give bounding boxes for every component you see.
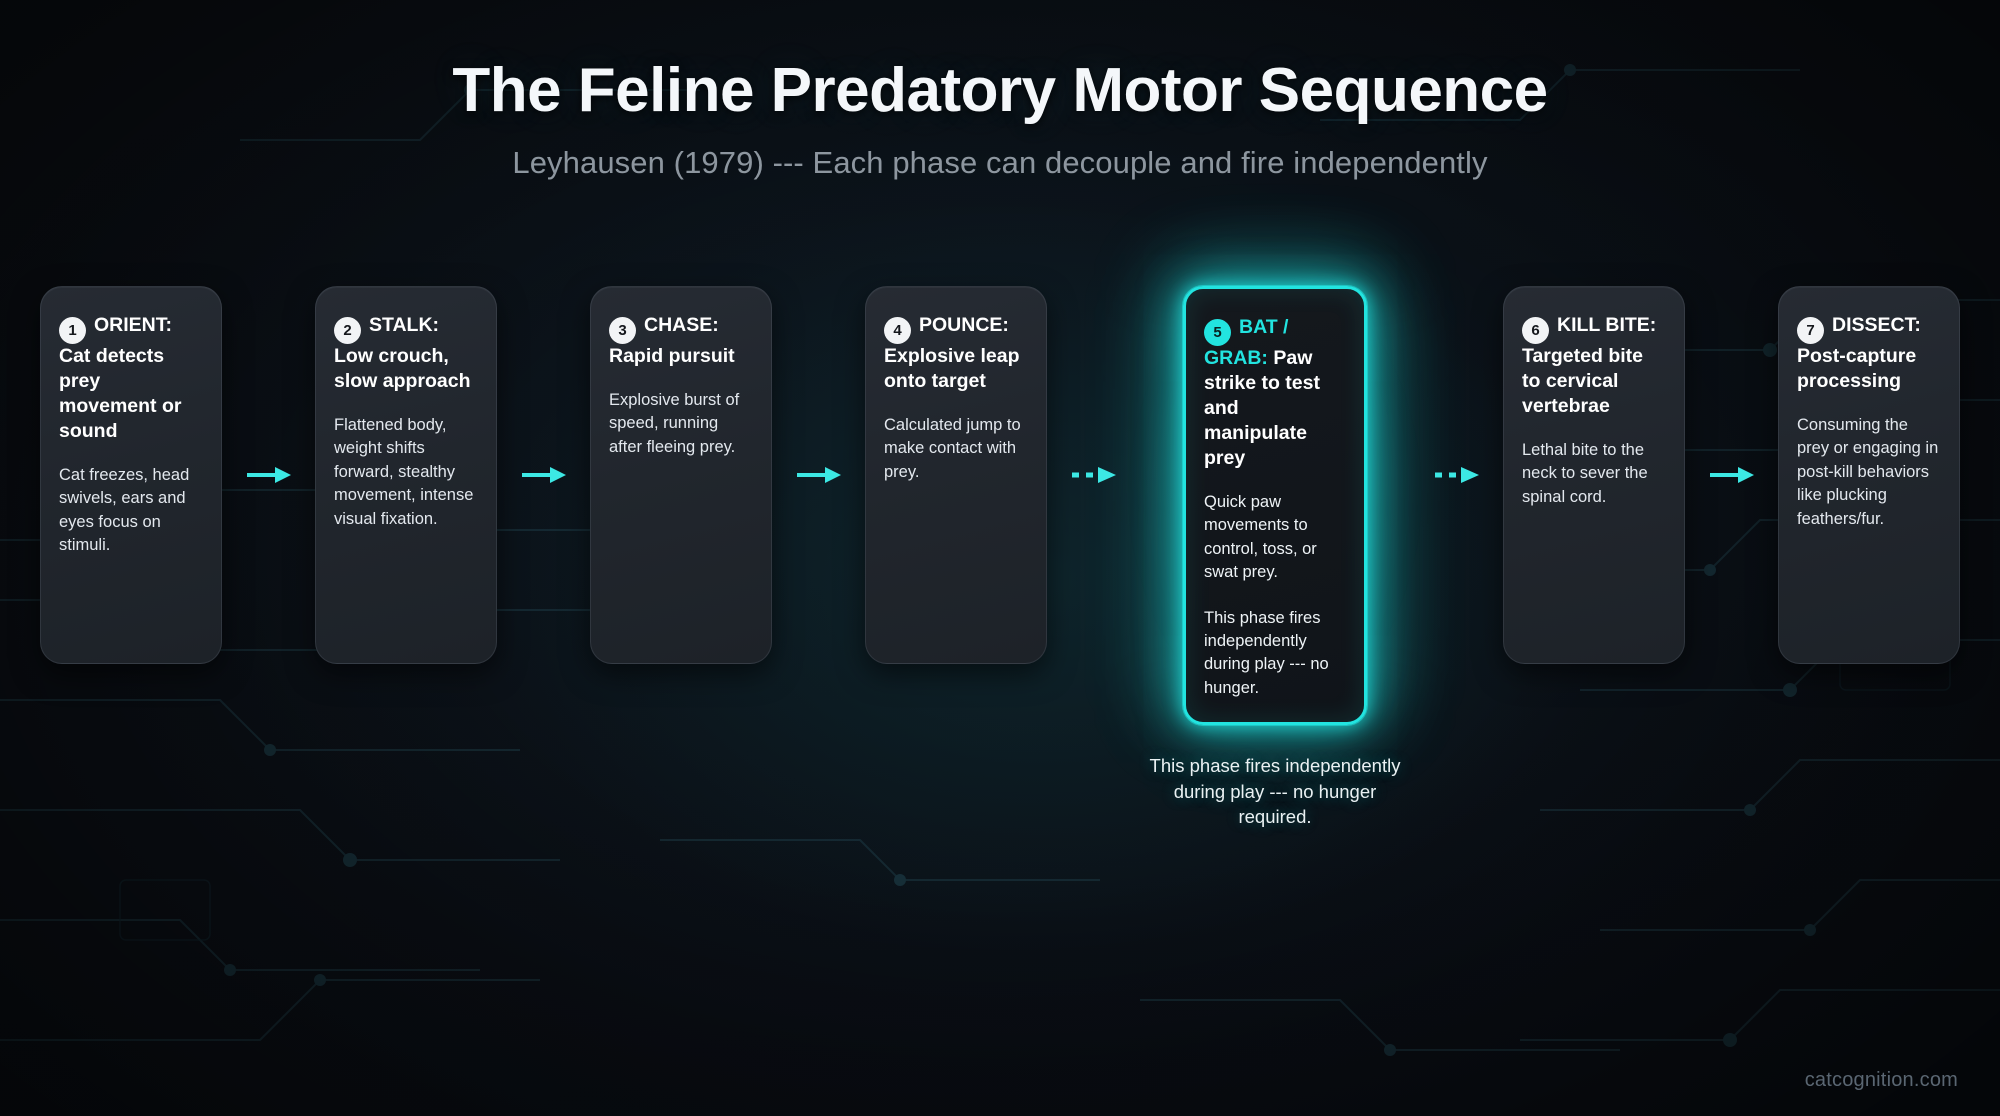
- step-number-badge-4: 4: [884, 317, 911, 344]
- step-description-5b: This phase fires independently during pl…: [1204, 607, 1344, 701]
- predatory-sequence-flow: 1ORIENT: Cat detects prey movement or so…: [40, 286, 1960, 830]
- step-description-7: Consuming the prey or engaging in post-k…: [1797, 414, 1939, 531]
- step-card-stalk[interactable]: 2STALK: Low crouch, slow approach Flatte…: [315, 286, 497, 664]
- step-card-chase[interactable]: 3CHASE: Rapid pursuit Explosive burst of…: [590, 286, 772, 664]
- step-slot-4: 4POUNCE: Explosive leap onto target Calc…: [865, 286, 1047, 664]
- step-heading-2: 2STALK: Low crouch, slow approach: [334, 313, 476, 394]
- step-heading-3: 3CHASE: Rapid pursuit: [609, 313, 751, 369]
- watermark: catcognition.com: [1805, 1069, 1958, 1092]
- step-description-4: Calculated jump to make contact with pre…: [884, 414, 1026, 484]
- step-card-bat-grab[interactable]: 5BAT / GRAB: Paw strike to test and mani…: [1183, 286, 1367, 725]
- connector-arrow-2-3: [521, 286, 567, 664]
- step-description-5a: Quick paw movements to control, toss, or…: [1204, 491, 1344, 585]
- page-title: The Feline Predatory Motor Sequence: [0, 58, 2000, 125]
- step-heading-1: 1ORIENT: Cat detects prey movement or so…: [59, 313, 201, 444]
- step-number-badge-1: 1: [59, 317, 86, 344]
- step-heading-5: 5BAT / GRAB: Paw strike to test and mani…: [1204, 315, 1344, 471]
- step-description-3: Explosive burst of speed, running after …: [609, 389, 751, 459]
- step-card-orient[interactable]: 1ORIENT: Cat detects prey movement or so…: [40, 286, 222, 664]
- step-card-kill-bite[interactable]: 6KILL BITE: Targeted bite to cervical ve…: [1503, 286, 1685, 664]
- step-heading-7: 7DISSECT: Post-capture processing: [1797, 313, 1939, 394]
- step-card-pounce[interactable]: 4POUNCE: Explosive leap onto target Calc…: [865, 286, 1047, 664]
- step-number-badge-5: 5: [1204, 319, 1231, 346]
- step-description-6: Lethal bite to the neck to sever the spi…: [1522, 439, 1664, 509]
- step-number-badge-6: 6: [1522, 317, 1549, 344]
- connector-arrow-dashed-5-6: [1434, 286, 1480, 664]
- page-subtitle: Leyhausen (1979) --- Each phase can deco…: [0, 145, 2000, 181]
- step-number-badge-2: 2: [334, 317, 361, 344]
- step-card-dissect[interactable]: 7DISSECT: Post-capture processing Consum…: [1778, 286, 1960, 664]
- connector-arrow-3-4: [796, 286, 842, 664]
- step-slot-6: 6KILL BITE: Targeted bite to cervical ve…: [1503, 286, 1685, 664]
- step-description-2: Flattened body, weight shifts forward, s…: [334, 414, 476, 531]
- connector-arrow-1-2: [246, 286, 292, 664]
- highlight-caption: This phase fires independently during pl…: [1140, 753, 1410, 830]
- connector-arrow-dashed-4-5: [1071, 286, 1117, 664]
- step-slot-2: 2STALK: Low crouch, slow approach Flatte…: [315, 286, 497, 664]
- step-description-1: Cat freezes, head swivels, ears and eyes…: [59, 464, 201, 558]
- step-slot-5: 5BAT / GRAB: Paw strike to test and mani…: [1140, 286, 1410, 830]
- step-slot-7: 7DISSECT: Post-capture processing Consum…: [1778, 286, 1960, 664]
- step-number-badge-7: 7: [1797, 317, 1824, 344]
- page-header: The Feline Predatory Motor Sequence Leyh…: [0, 0, 2000, 181]
- step-slot-1: 1ORIENT: Cat detects prey movement or so…: [40, 286, 222, 664]
- step-heading-6: 6KILL BITE: Targeted bite to cervical ve…: [1522, 313, 1664, 419]
- step-heading-4: 4POUNCE: Explosive leap onto target: [884, 313, 1026, 394]
- connector-arrow-6-7: [1709, 286, 1755, 664]
- step-number-badge-3: 3: [609, 317, 636, 344]
- step-slot-3: 3CHASE: Rapid pursuit Explosive burst of…: [590, 286, 772, 664]
